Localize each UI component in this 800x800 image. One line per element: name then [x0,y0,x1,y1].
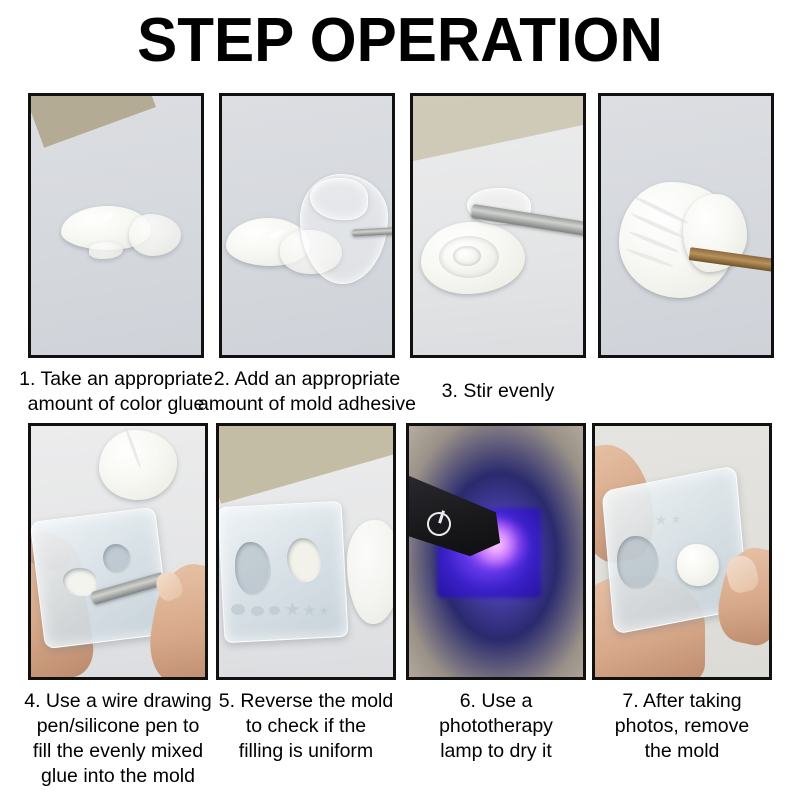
scene-fill-mold [31,426,205,677]
cured-piece [677,544,719,586]
step-card-6: 5. Reverse the mold to check if the fill… [216,423,396,764]
step-card-5: 4. Use a wire drawing pen/silicone pen t… [28,423,208,789]
step-caption-2: 2. Add an appropriate amount of mold adh… [195,367,419,417]
scene-uv-lamp [409,426,583,677]
step-photo-8 [592,423,772,680]
step-card-2: 2. Add an appropriate amount of mold adh… [219,93,395,417]
step-photo-4 [598,93,774,358]
step-card-4 [598,93,774,367]
step-card-7: 6. Use a phototherapy lamp to dry it [406,423,586,764]
scene-stirring [413,96,583,355]
step-card-3: 3. Stir evenly [410,93,586,404]
step-photo-6 [216,423,396,680]
scene-reverse-mold [219,426,393,677]
page-title: STEP OPERATION [12,8,788,74]
step-card-8: 7. After taking photos, remove the mold [592,423,772,764]
mold-cavity-empty [617,536,659,590]
step-photo-1 [28,93,204,358]
step-photo-2 [219,93,395,358]
scene-glue-blob [31,96,201,355]
mold-cavity-bow [269,606,280,615]
scene-mixed-glue [601,96,771,355]
scene-demolding [595,426,769,677]
mold-cavity-bow [251,606,264,616]
step-photo-3 [410,93,586,358]
step-photo-5 [28,423,208,680]
step-card-1: 1. Take an appropriate amount of color g… [28,93,204,417]
scene-add-adhesive [222,96,392,355]
step-caption-8: 7. After taking photos, remove the mold [568,689,796,764]
mold-cavity-cat-filled [287,538,321,582]
mold-cavity-bow [231,604,245,615]
step-caption-3: 3. Stir evenly [410,367,586,404]
glue-swirl-core [453,246,481,266]
mold-cavity-empty [103,544,131,574]
step-photo-7 [406,423,586,680]
